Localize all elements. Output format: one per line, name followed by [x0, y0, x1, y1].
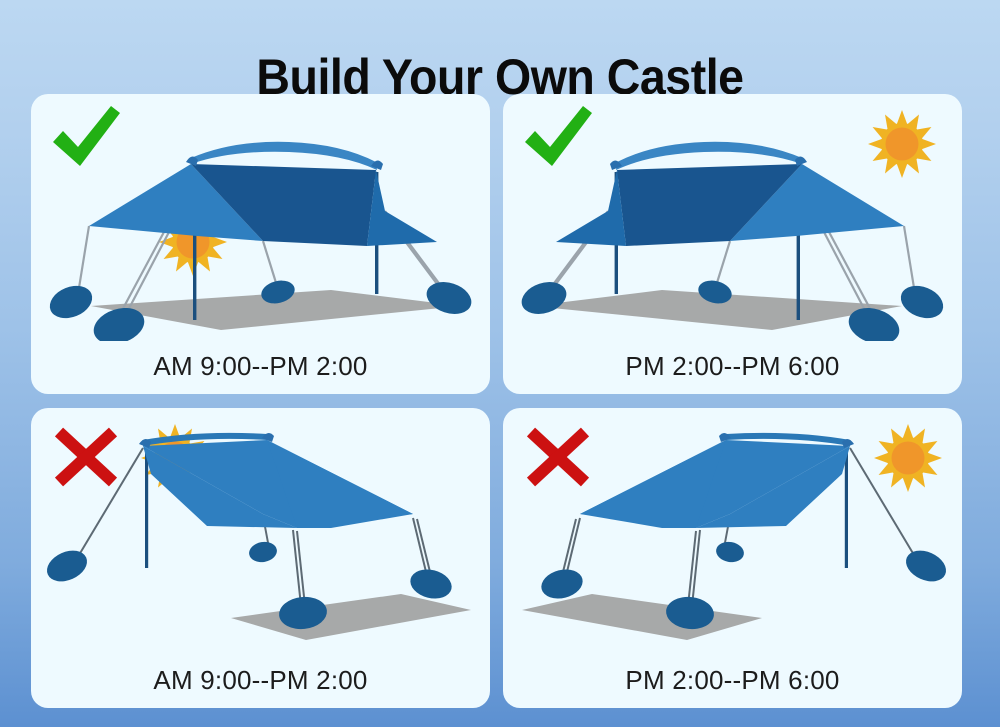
panel-caption: AM 9:00--PM 2:00 — [31, 351, 490, 381]
tent-illustration-tilted-right — [31, 408, 490, 655]
tent-illustration-upright-right — [503, 94, 962, 341]
panel-caption: PM 2:00--PM 6:00 — [503, 665, 962, 695]
panel-caption: PM 2:00--PM 6:00 — [503, 351, 962, 381]
panel-top-right[interactable]: PM 2:00--PM 6:00 — [503, 94, 962, 394]
tent-illustration-tilted-left — [503, 408, 962, 655]
panel-bottom-right[interactable]: PM 2:00--PM 6:00 — [503, 408, 962, 708]
tent-illustration-upright-left — [31, 94, 490, 341]
panel-grid: AM 9:00--PM 2:00 — [31, 94, 962, 708]
poster-root: Build Your Own Castle — [0, 0, 1000, 727]
panel-bottom-left[interactable]: AM 9:00--PM 2:00 — [31, 408, 490, 708]
panel-top-left[interactable]: AM 9:00--PM 2:00 — [31, 94, 490, 394]
panel-caption: AM 9:00--PM 2:00 — [31, 665, 490, 695]
